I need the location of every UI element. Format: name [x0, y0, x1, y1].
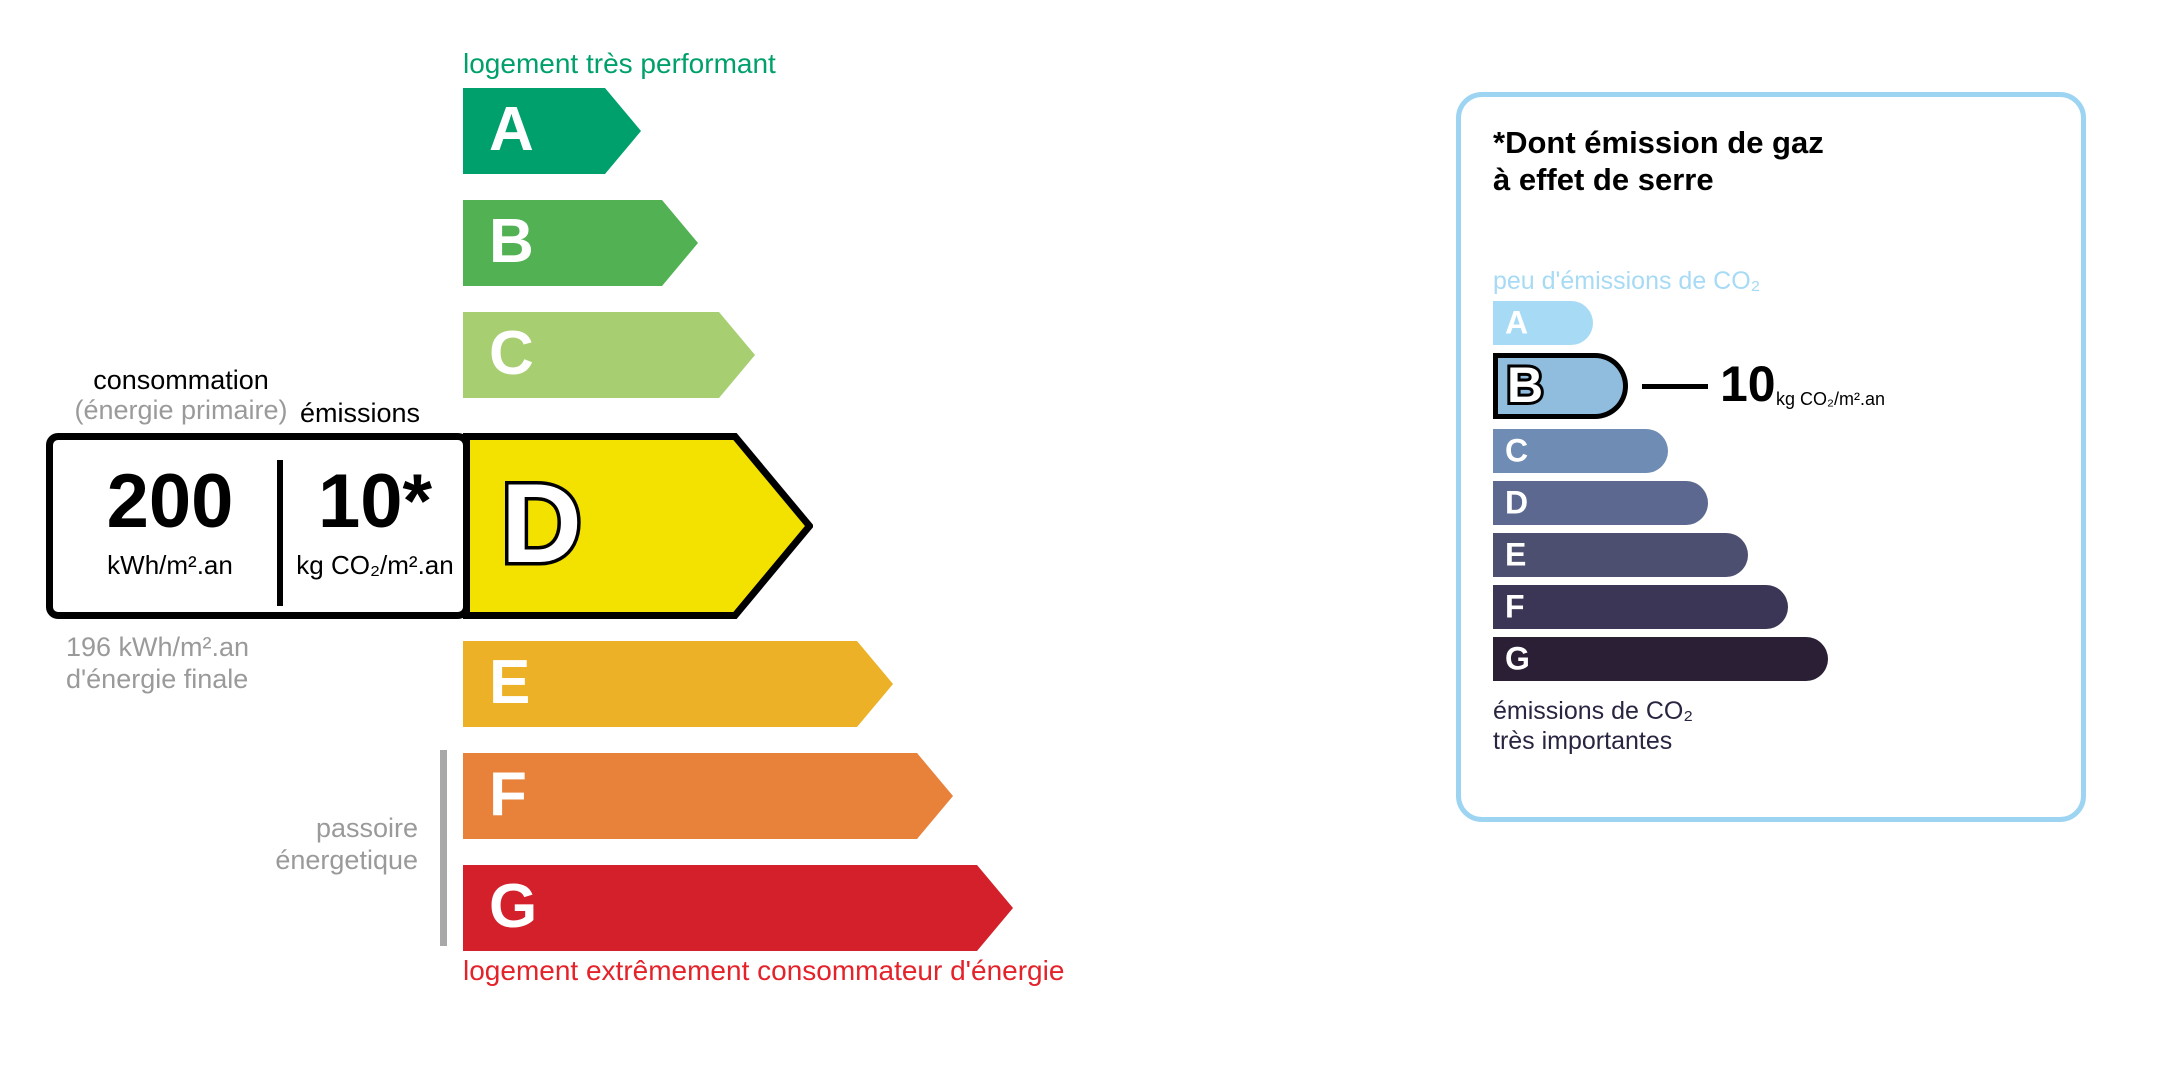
value-box-divider [277, 460, 283, 606]
co2-grade-letter-e: E [1505, 538, 1526, 570]
energy-bottom-caption: logement extrêmement consommateur d'éner… [463, 955, 1064, 987]
co2-grade-b: B10kg CO₂/m².an [1493, 353, 2053, 419]
co2-bottom-caption-line1: émissions de CO₂ [1493, 697, 1693, 727]
consumption-label-main: consommation [66, 365, 296, 395]
energy-grade-letter-e: E [489, 652, 530, 714]
passoire-label-line2: énergetique [190, 844, 418, 876]
energy-arrow-shape-f [463, 753, 953, 839]
energy-grade-a: A [463, 88, 641, 174]
passoire-marker-bar [440, 750, 447, 946]
passoire-label-line1: passoire [190, 812, 418, 844]
co2-grade-g: G [1493, 637, 2053, 681]
co2-bar-f [1493, 585, 1788, 629]
co2-grade-f: F [1493, 585, 2053, 629]
co2-bottom-caption-line2: très importantes [1493, 727, 1693, 757]
co2-panel: *Dont émission de gaz à effet de serre p… [1456, 92, 2086, 822]
final-energy-value: 196 kWh/m².an [66, 632, 249, 664]
co2-value-unit: kg CO₂/m².an [1776, 389, 1885, 410]
energy-grade-letter-b: B [489, 211, 534, 273]
energy-grade-f: F [463, 753, 953, 839]
co2-title-line2: à effet de serre [1493, 162, 1824, 199]
co2-bottom-caption: émissions de CO₂ très importantes [1493, 697, 1693, 756]
co2-grade-a: A [1493, 301, 2053, 345]
energy-grade-letter-g: G [489, 876, 537, 938]
energy-grade-g: G [463, 865, 1013, 951]
co2-grade-d: D [1493, 481, 2053, 525]
energy-grade-e: E [463, 641, 893, 727]
co2-connector-line [1642, 384, 1708, 389]
co2-bar-g [1493, 637, 1828, 681]
energy-grade-letter-a: A [489, 99, 534, 161]
consumption-label: consommation (énergie primaire) [66, 365, 296, 425]
co2-top-caption: peu d'émissions de CO₂ [1493, 267, 1760, 296]
consumption-value-cell: 200 kWh/m².an [65, 466, 275, 581]
energy-arrow-shape-g [463, 865, 1013, 951]
emissions-unit: kg CO₂/m².an [285, 550, 465, 581]
co2-grade-letter-b: B [1507, 360, 1543, 410]
consumption-label-sub: (énergie primaire) [66, 395, 296, 425]
energy-grade-letter-d: D [501, 468, 582, 580]
emissions-label: émissions [300, 398, 420, 429]
co2-grade-list: AB10kg CO₂/m².anCDEFG [1493, 301, 2053, 689]
energy-grade-letter-f: F [489, 764, 527, 826]
co2-value: 10 [1720, 359, 1776, 409]
emissions-value: 10* [285, 466, 465, 538]
co2-bar-e [1493, 533, 1748, 577]
final-energy-text: d'énergie finale [66, 664, 249, 696]
energy-grade-b: B [463, 200, 698, 286]
co2-grade-c: C [1493, 429, 2053, 473]
co2-title-line1: *Dont émission de gaz [1493, 125, 1824, 162]
passoire-label: passoire énergetique [190, 812, 418, 877]
energy-consumption-panel: logement très performant ABCDEFG logemen… [0, 0, 1400, 1079]
co2-panel-title: *Dont émission de gaz à effet de serre [1493, 125, 1824, 198]
energy-top-caption: logement très performant [463, 48, 776, 80]
co2-grade-e: E [1493, 533, 2053, 577]
energy-grade-letter-c: C [489, 323, 534, 385]
energy-grade-d: D [463, 433, 813, 619]
co2-grade-letter-c: C [1505, 434, 1528, 466]
emissions-value-cell: 10* kg CO₂/m².an [285, 466, 465, 581]
energy-grade-c: C [463, 312, 755, 398]
consumption-unit: kWh/m².an [65, 550, 275, 581]
co2-grade-letter-f: F [1505, 590, 1525, 622]
dpe-label: logement très performant ABCDEFG logemen… [0, 0, 2170, 1079]
final-energy-label: 196 kWh/m².an d'énergie finale [66, 632, 249, 696]
consumption-value: 200 [65, 466, 275, 538]
co2-grade-letter-a: A [1505, 306, 1528, 338]
co2-grade-letter-g: G [1505, 642, 1530, 674]
value-box: 200 kWh/m².an 10* kg CO₂/m².an [46, 433, 470, 619]
co2-bar-outline-left [1493, 353, 1498, 419]
co2-grade-letter-d: D [1505, 486, 1528, 518]
